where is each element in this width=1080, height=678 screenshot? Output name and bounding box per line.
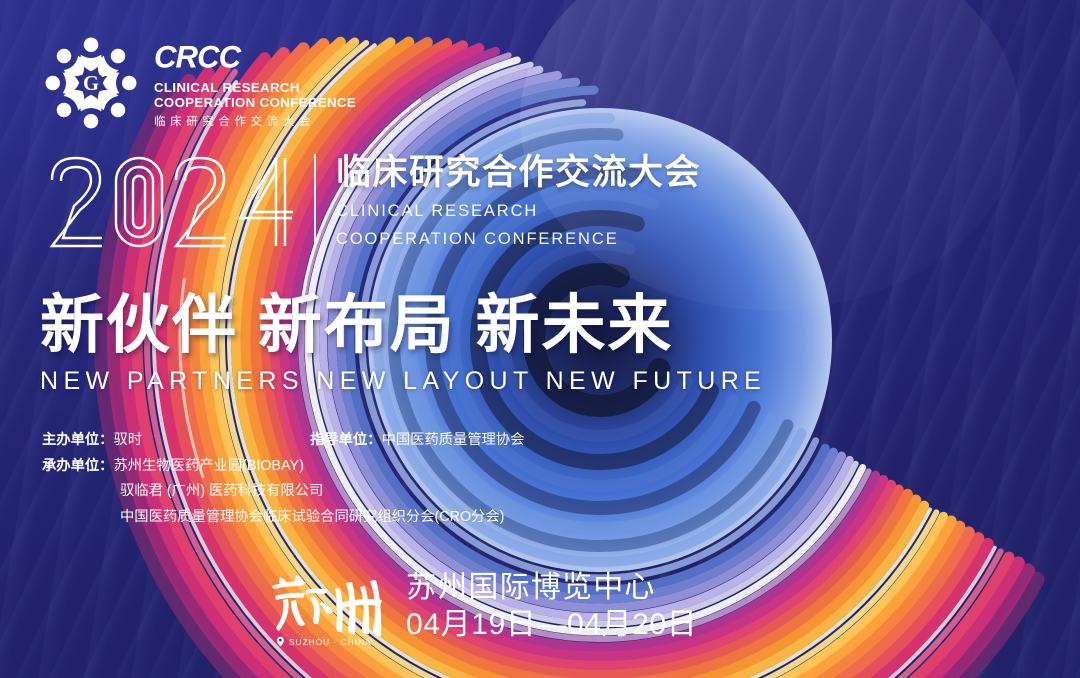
organizer-value-3: 中国医药质量管理协会临床试验合同研究组织分会(CRO分会) — [42, 505, 525, 531]
row-spacer — [142, 428, 310, 454]
conference-title-cn: 临床研究合作交流大会 — [336, 152, 701, 194]
host-and-guide-row: 主办单位： 驭时 指导单位： 中国医药质量管理协会 — [42, 428, 525, 454]
organizer-value-1: 苏州生物医药产业园(BIOBAY) — [113, 454, 303, 480]
crcc-logo-block: G CRCC CLINICAL RESEARCH COOPERATION CON… — [42, 34, 356, 132]
slogan-block: 新伙伴 新布局 新未来 NEW PARTNERS NEW LAYOUT NEW … — [40, 288, 766, 396]
organizer-value-2: 驭临君 (广州) 医药科技有限公司 — [42, 479, 525, 505]
organizer-block: 主办单位： 驭时 指导单位： 中国医药质量管理协会 承办单位： 苏州生物医药产业… — [42, 428, 525, 530]
conference-title-en-line1: CLINICAL RESEARCH — [336, 201, 701, 222]
conference-title-en-line2: COOPERATION CONFERENCE — [336, 229, 701, 250]
organizer-label: 承办单位： — [42, 454, 113, 480]
headline-row: 临床研究合作交流大会 CLINICAL RESEARCH COOPERATION… — [44, 150, 701, 254]
location-pin-icon — [277, 637, 284, 647]
crcc-people-ring-logo-icon: G — [42, 34, 140, 132]
guide-value: 中国医药质量管理协会 — [382, 428, 525, 454]
svg-text:CRCC: CRCC — [154, 41, 242, 74]
crcc-english-line2: COOPERATION CONFERENCE — [154, 95, 356, 111]
venue-block: SUZHOU · CHINA 苏州国际博览中心 04月19日—04月20日 — [266, 566, 697, 650]
guide-label: 指导单位： — [310, 428, 381, 454]
conference-poster: G CRCC CLINICAL RESEARCH COOPERATION CON… — [0, 0, 1080, 678]
title-divider — [314, 154, 316, 246]
svg-text:SUZHOU · CHINA: SUZHOU · CHINA — [289, 638, 372, 647]
venue-date-range: 04月19日—04月20日 — [406, 606, 697, 643]
year-2024-outline — [44, 150, 300, 254]
organizer-row-1: 承办单位： 苏州生物医药产业园(BIOBAY) — [42, 454, 525, 480]
host-label: 主办单位： — [42, 428, 113, 454]
slogan-chinese: 新伙伴 新布局 新未来 — [40, 288, 766, 362]
venue-name: 苏州国际博览中心 — [406, 569, 697, 606]
host-value: 驭时 — [113, 428, 142, 454]
crcc-english-line1: CLINICAL RESEARCH — [154, 80, 356, 96]
suzhou-calligraphy-mark: SUZHOU · CHINA — [266, 566, 390, 650]
svg-text:G: G — [83, 73, 99, 95]
slogan-english: NEW PARTNERS NEW LAYOUT NEW FUTURE — [40, 366, 766, 396]
crcc-chinese-name: 临床研究合作交流大会 — [154, 114, 356, 130]
crcc-wordmark: CRCC — [154, 41, 356, 75]
